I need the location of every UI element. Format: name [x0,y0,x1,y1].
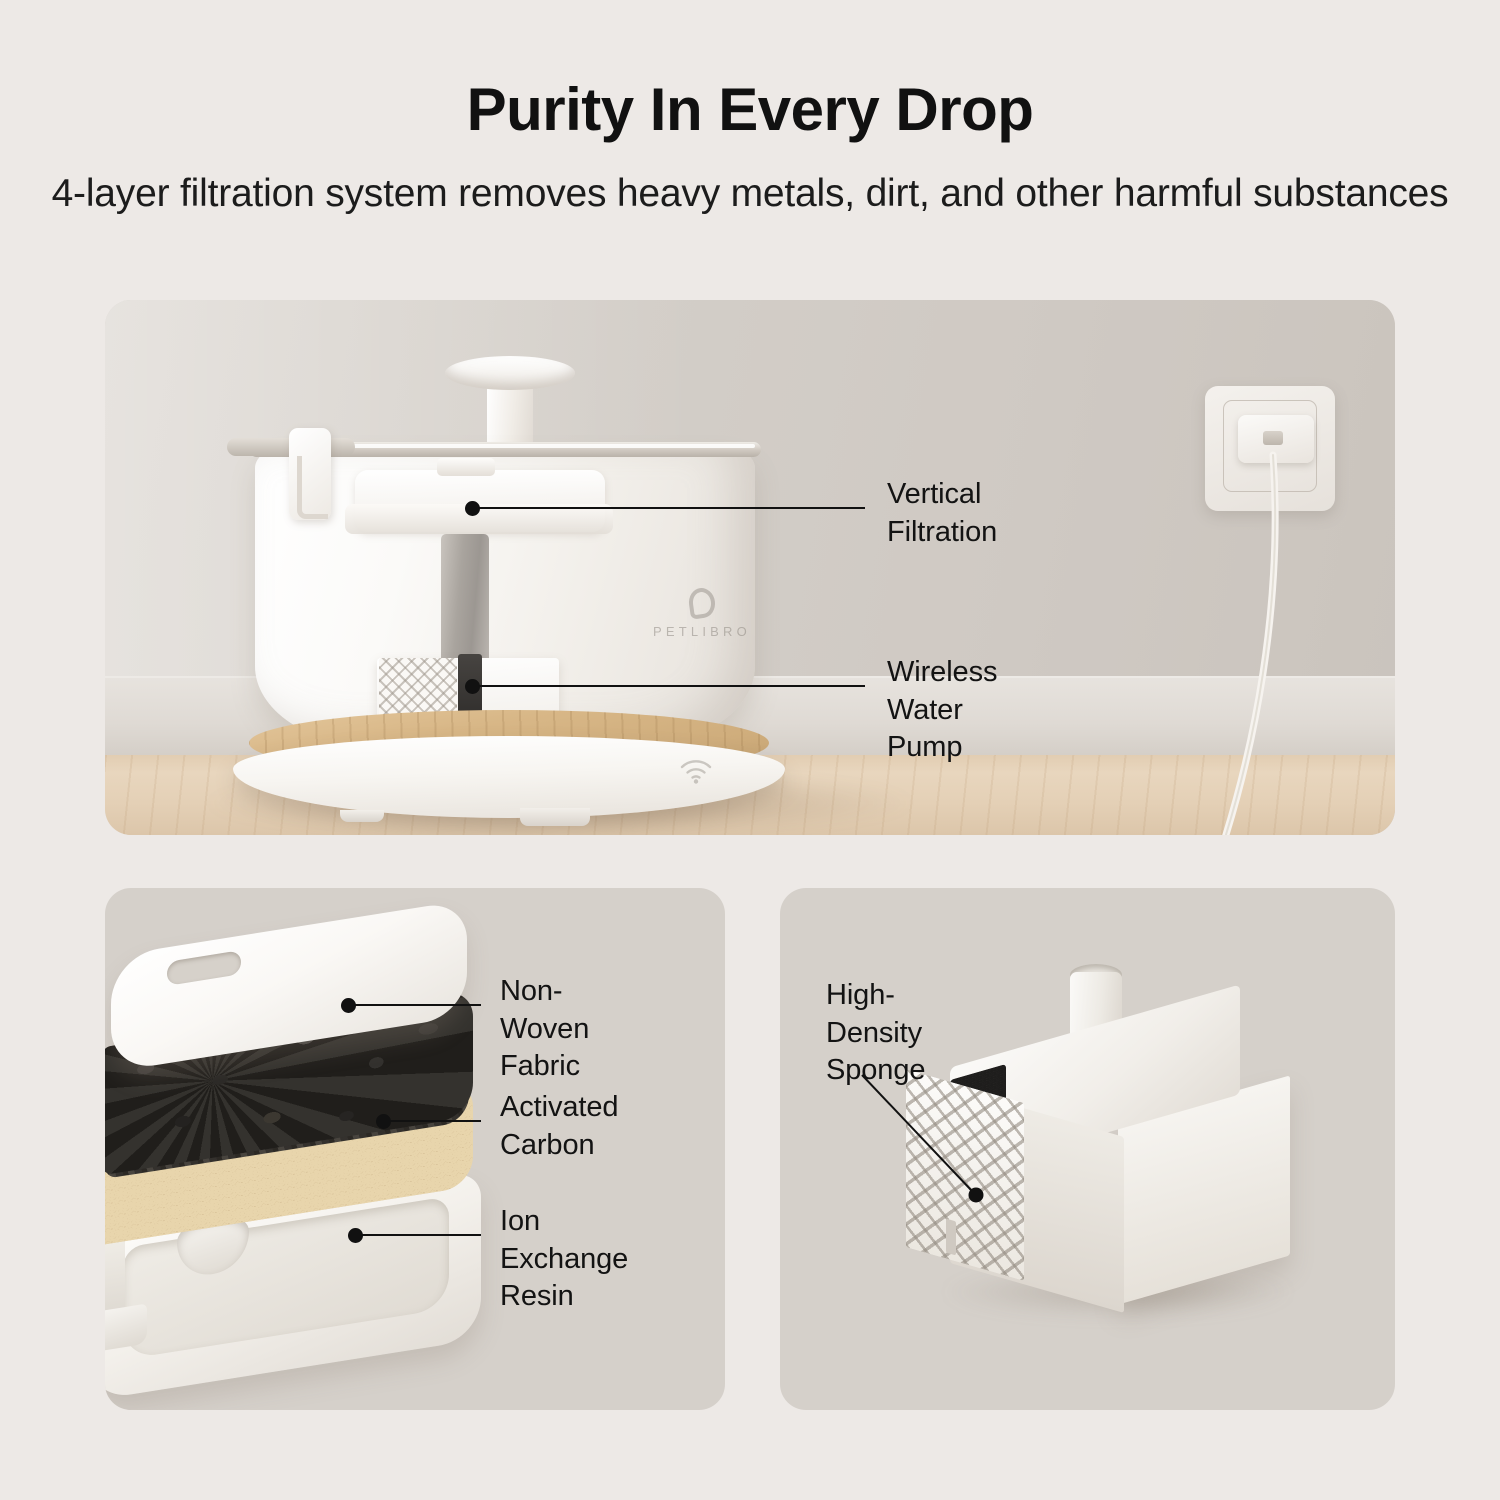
callout-leader-line [383,1120,481,1122]
bowl-handle-clip [289,428,331,520]
spout-cup [445,356,575,390]
callout-label-activated-carbon: Activated Carbon [500,1089,618,1164]
plug-prong [1263,431,1283,445]
filter-cap [437,458,495,476]
base-foot-left [340,810,384,822]
pump-sponge-card: High-Density Sponge [780,888,1395,1410]
filter-layers-card: Non-Woven Fabric Activated Carbon Ion Ex… [105,888,725,1410]
callout-leader-line [348,1004,481,1006]
page-subtitle: 4-layer filtration system removes heavy … [0,167,1500,221]
paw-logo-icon [687,586,717,619]
base-foot-front [520,808,590,826]
callout-label-non-woven-fabric: Non-Woven Fabric [500,973,589,1086]
callout-label-wireless-water-pump: Wireless Water Pump [887,654,997,767]
hero-image-card: PETLIBRO Vertical Filtration Wireless Wa… [105,300,1395,835]
callout-leader-line [355,1234,481,1236]
callout-leader-line [472,685,865,687]
callout-label-vertical-filtration: Vertical Filtration [887,476,997,551]
wifi-icon [679,758,713,784]
callout-leader-line [472,507,865,509]
page-title: Purity In Every Drop [0,78,1500,141]
water-fountain-device: PETLIBRO [245,358,775,835]
brand-logo: PETLIBRO [637,588,767,639]
callout-leader-line [860,1073,1060,1213]
pump-grille-slot [946,1219,956,1256]
header: Purity In Every Drop 4-layer filtration … [0,0,1500,221]
callout-label-ion-exchange-resin: Ion Exchange Resin [500,1203,628,1316]
brand-name: PETLIBRO [637,624,767,639]
